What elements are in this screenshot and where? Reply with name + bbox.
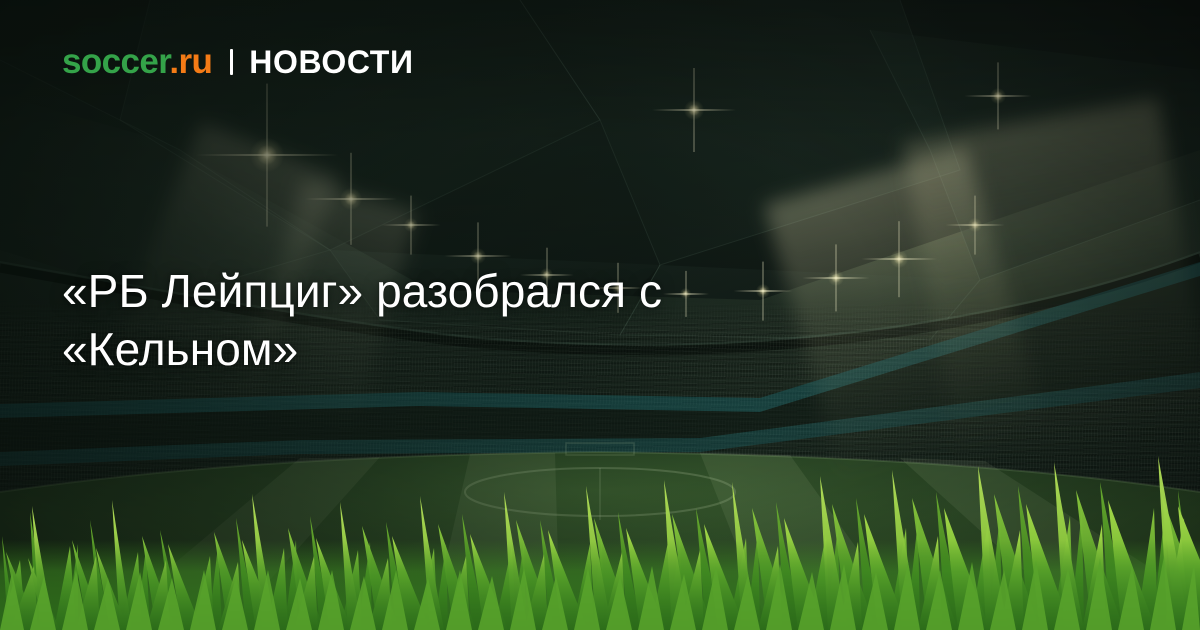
- floodlight-flare: [404, 218, 418, 232]
- logo-primary-text: soccer: [62, 42, 169, 81]
- floodlight-flare: [250, 138, 284, 172]
- logo-separator-bar: [230, 49, 233, 75]
- news-share-card: soccer.ru НОВОСТИ «РБ Лейпциг» разобралс…: [0, 0, 1200, 630]
- floodlight-flare: [890, 250, 908, 268]
- light-beam: [902, 97, 1200, 467]
- floodlight-flare: [990, 88, 1006, 104]
- floodlight-flare: [684, 100, 704, 120]
- floodlight-flare: [340, 188, 362, 210]
- site-logo-bar[interactable]: soccer.ru НОВОСТИ: [62, 44, 414, 79]
- soccer-ru-logo[interactable]: soccer.ru: [62, 44, 212, 79]
- page-title: «РБ Лейпциг» разобрался с «Кельном»: [62, 262, 892, 378]
- section-label: НОВОСТИ: [249, 46, 413, 78]
- floodlight-flare: [968, 218, 982, 232]
- logo-domain-text: .ru: [169, 42, 212, 81]
